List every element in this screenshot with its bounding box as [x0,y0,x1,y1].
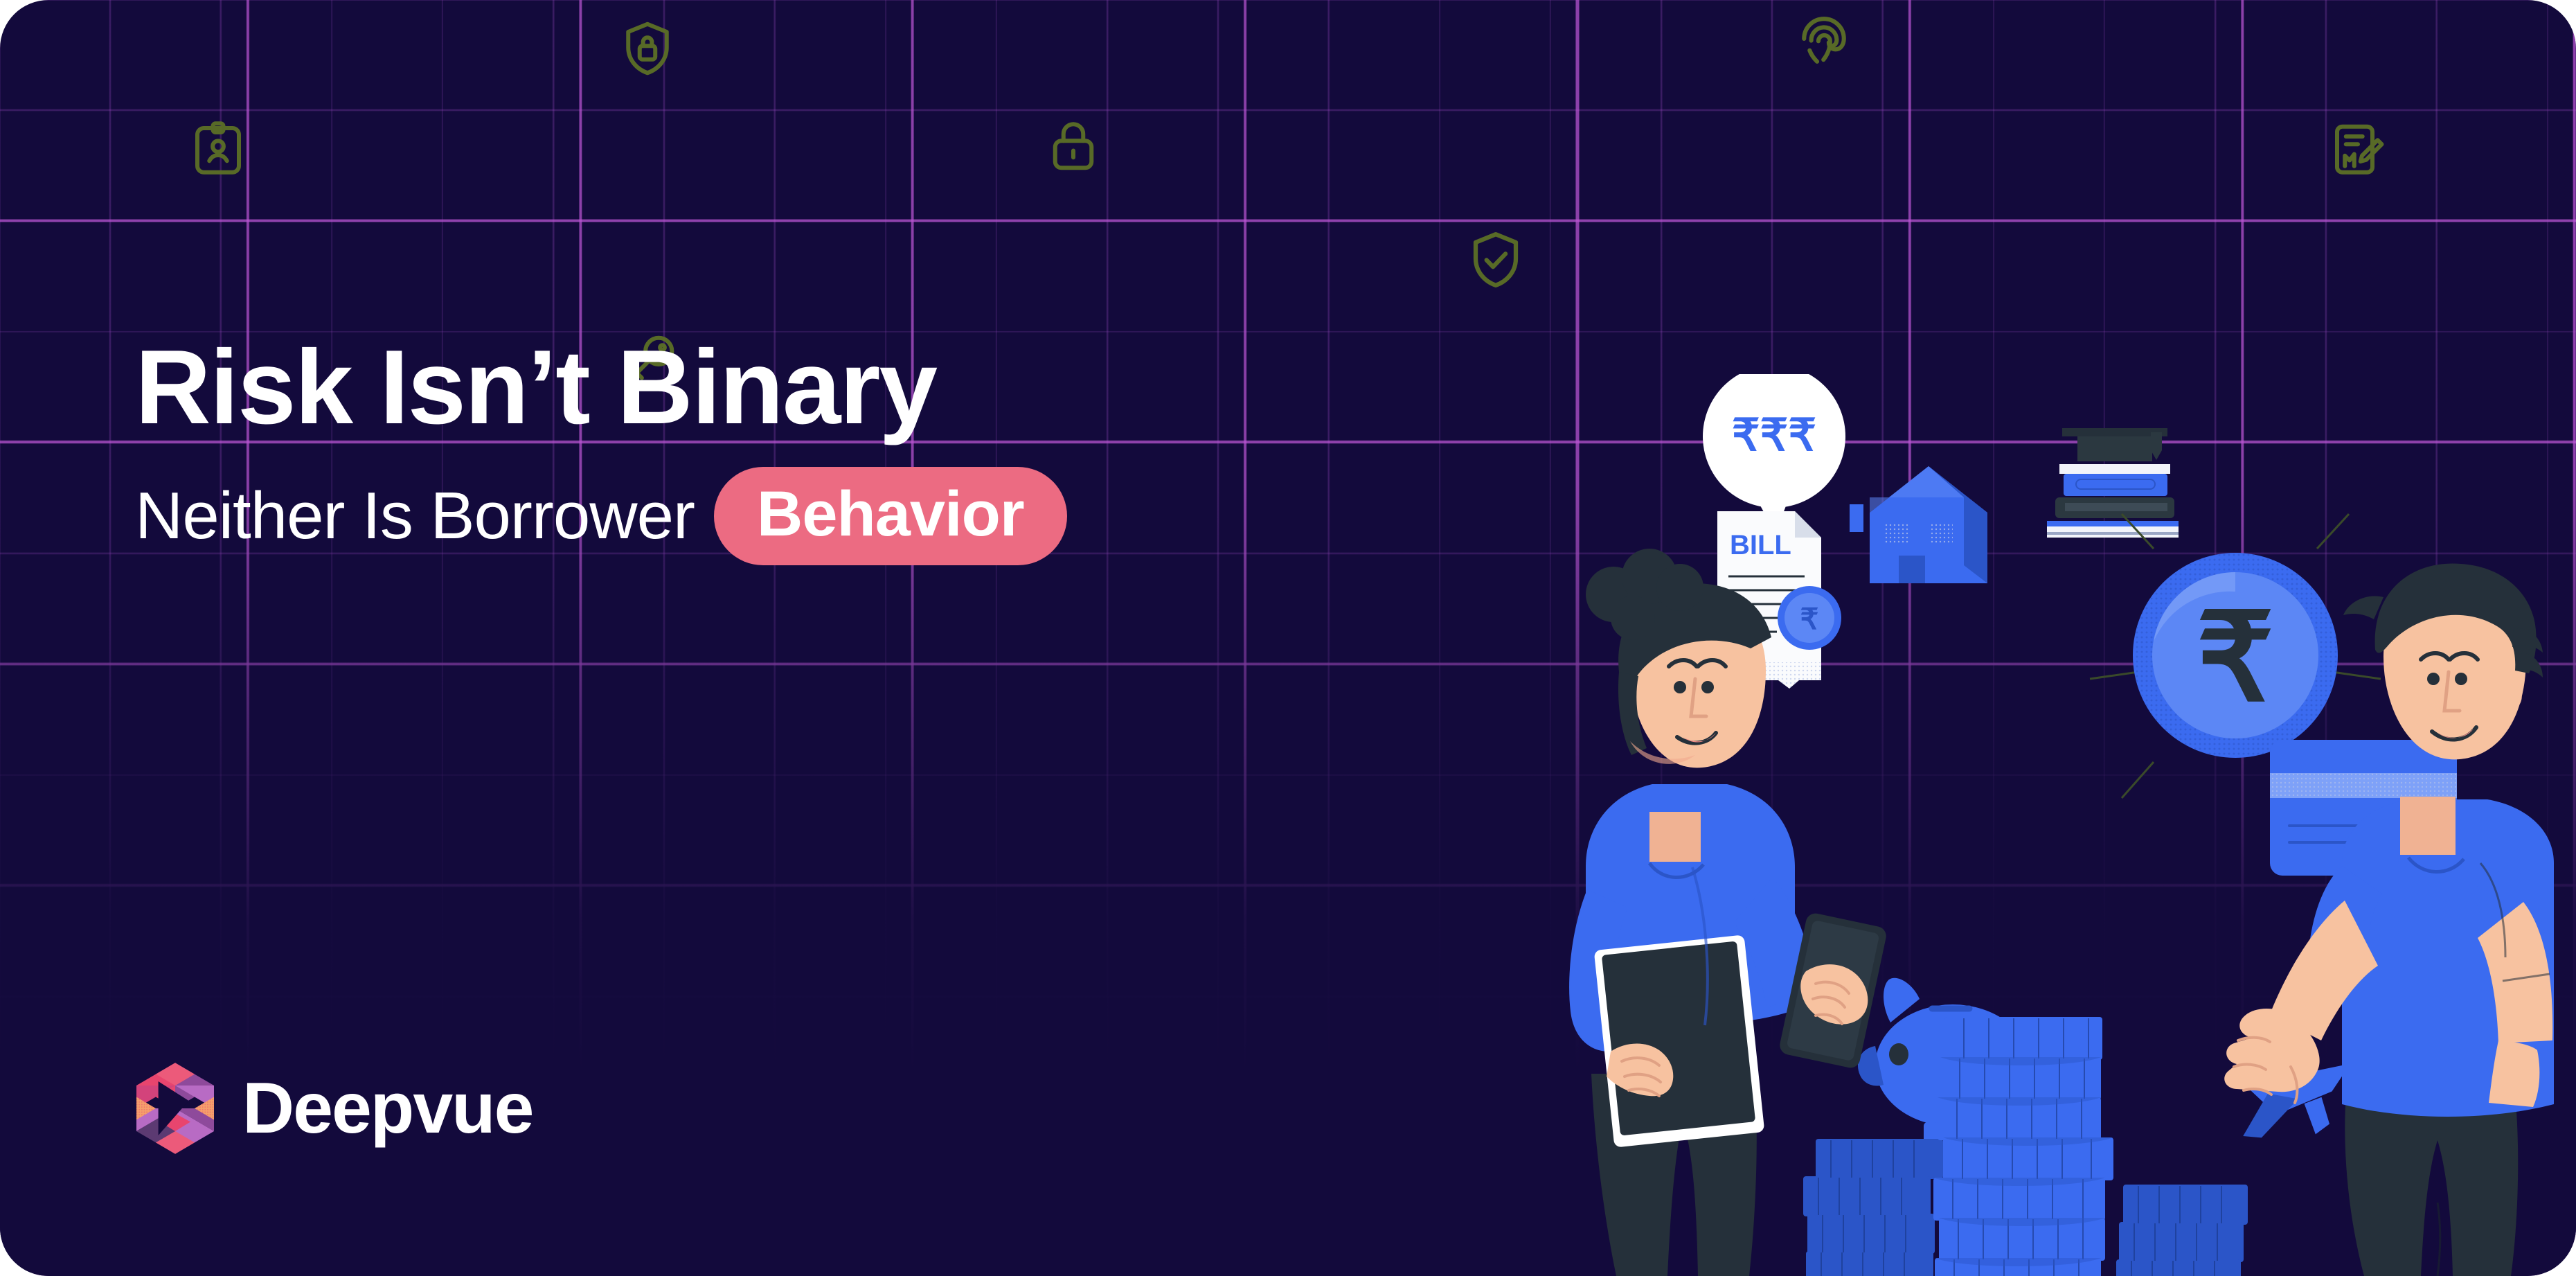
hero-banner: Risk Isn’t Binary Neither Is Borrower Be… [0,0,2576,1276]
financial-behavior-illustration: ₹₹₹ [1544,374,2555,1276]
fingerprint-icon [1792,6,1856,69]
deepvue-logo[interactable]: Deepvue [133,1063,533,1154]
graduation-books [2047,428,2179,538]
id-card-icon [187,118,249,180]
headline-line-1: Risk Isn’t Binary [135,333,1381,443]
padlock-icon [1042,114,1104,177]
coin-stack-right [2116,1185,2248,1276]
deepvue-hexagon-logo-icon [133,1063,217,1154]
svg-text:₹: ₹ [1800,603,1819,635]
headline-subtext: Neither Is Borrower [135,479,695,553]
document-sign-icon [2327,118,2389,180]
headline-line-2: Neither Is Borrower Behavior [135,467,1381,565]
shield-check-icon [1463,227,1528,292]
headline-block: Risk Isn’t Binary Neither Is Borrower Be… [135,333,1381,565]
behavior-highlight-pill: Behavior [714,467,1067,565]
shield-lock-icon [616,17,679,80]
coin-stack-center [1933,1017,2113,1276]
coin-stack-left [1803,1139,1943,1276]
svg-text:₹: ₹ [2197,590,2274,726]
svg-text:BILL: BILL [1730,530,1791,560]
speech-bubble-rupee: ₹₹₹ [1703,374,1845,533]
deepvue-wordmark: Deepvue [242,1072,533,1144]
house-icon [1850,466,1987,583]
svg-text:₹₹₹: ₹₹₹ [1732,410,1816,460]
